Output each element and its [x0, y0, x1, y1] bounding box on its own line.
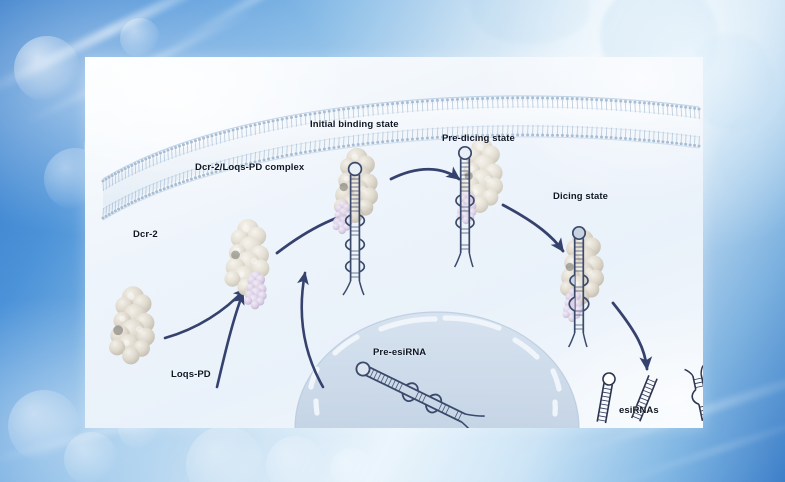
figure-panel: Dcr-2 Loqs-PD Dcr-2/Loqs-PD complex Init… [85, 57, 703, 428]
label-esirnas: esiRNAs [619, 405, 659, 416]
label-dcr2: Dcr-2 [133, 229, 158, 240]
figure-canvas: Dcr-2 Loqs-PD Dcr-2/Loqs-PD complex Init… [0, 0, 785, 482]
label-complex: Dcr-2/Loqs-PD complex [195, 162, 304, 173]
label-initial-binding: Initial binding state [310, 119, 399, 130]
label-dicing: Dicing state [553, 191, 608, 202]
label-pre-dicing: Pre-dicing state [442, 133, 515, 144]
label-loqs-pd: Loqs-PD [171, 369, 211, 380]
label-pre-esirna: Pre-esiRNA [373, 347, 426, 358]
